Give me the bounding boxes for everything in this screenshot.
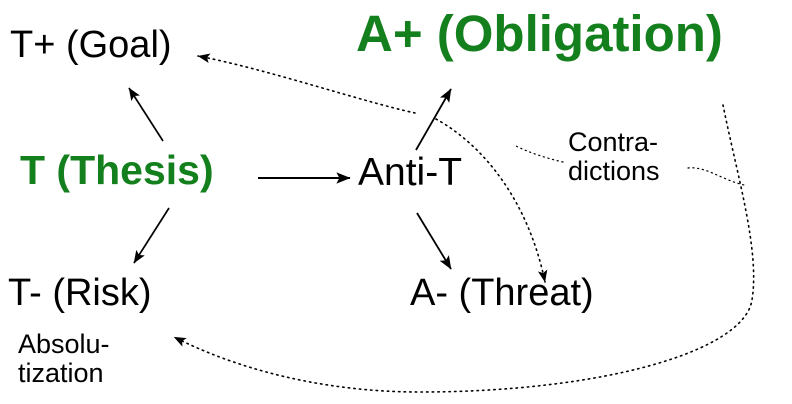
edge-obligation-to-goal bbox=[198, 56, 415, 113]
node-t-risk: T- (Risk) bbox=[8, 274, 152, 312]
node-t-thesis: T (Thesis) bbox=[20, 150, 214, 191]
edge-thesis-to-goal bbox=[129, 88, 163, 141]
label-absolutization-line1: Absolu- bbox=[18, 330, 110, 359]
leader-contradictions-right bbox=[688, 168, 744, 185]
label-absolutization: Absolu- tization bbox=[18, 330, 110, 388]
edge-absolutization-loop bbox=[174, 105, 754, 392]
label-contradictions: Contra- dictions bbox=[568, 128, 660, 186]
label-contradictions-line2: dictions bbox=[568, 157, 660, 186]
edge-contradiction-to-threat bbox=[436, 119, 545, 282]
edge-thesis-to-risk bbox=[134, 208, 169, 263]
label-absolutization-line2: tization bbox=[18, 359, 110, 388]
node-anti-t: Anti-T bbox=[358, 153, 462, 192]
node-a-obligation: A+ (Obligation) bbox=[356, 8, 723, 59]
diagram-canvas: T+ (Goal) A+ (Obligation) T (Thesis) Ant… bbox=[0, 0, 792, 404]
node-a-threat: A- (Threat) bbox=[410, 274, 594, 312]
node-t-goal: T+ (Goal) bbox=[10, 26, 172, 64]
edge-antit-to-obligation bbox=[416, 89, 451, 150]
label-contradictions-line1: Contra- bbox=[568, 128, 660, 157]
edge-antit-to-threat bbox=[417, 213, 451, 269]
leader-contradictions-left bbox=[516, 146, 563, 162]
